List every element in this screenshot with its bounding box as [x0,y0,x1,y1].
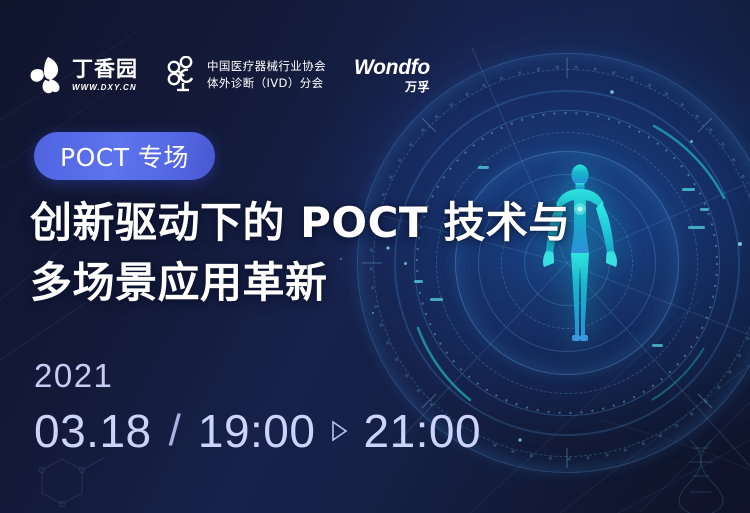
page-title: 创新驱动下的 POCT 技术与 多场景应用革新 [30,193,730,312]
logo-dxy-url: WWW.DXY.CN [72,83,138,92]
logo-ivd-line2: 体外诊断（IVD）分会 [207,75,326,92]
logo-dxy: 丁香园 WWW.DXY.CN [28,55,138,95]
headline-line-1: 创新驱动下的 POCT 技术与 [30,193,730,253]
logo-ivd-line1: 中国医疗器械行业协会 [207,58,326,75]
association-knot-icon [166,56,200,94]
sparkle-dot [372,312,374,314]
logo-cami-ivd: 中国医疗器械行业协会 体外诊断（IVD）分会 [166,56,326,94]
partner-logo-bar: 丁香园 WWW.DXY.CN 中国医疗器械行业协会 体外诊断（ [28,52,430,98]
schedule-date: 03.18 [34,408,152,454]
schedule-block: 2021 03.18 / 19:00 21:00 [34,358,481,454]
schedule-time-row: 03.18 / 19:00 21:00 [34,408,481,454]
play-triangle-icon [331,420,348,442]
logo-wondfo-name-cn: 万孚 [405,81,430,93]
leaf-flower-icon [28,55,66,95]
webinar-banner: 丁香园 WWW.DXY.CN 中国医疗器械行业协会 体外诊断（ [0,0,750,513]
badge-label: POCT 专场 [60,138,189,174]
logo-wondfo: Wondfo 万孚 [354,57,430,93]
status-badge: POCT 专场 [34,132,215,180]
schedule-start-time: 19:00 [198,408,316,454]
logo-wondfo-name-en: Wondfo [354,57,430,78]
schedule-year: 2021 [34,358,481,394]
schedule-separator: / [169,409,181,453]
headline-line-2: 多场景应用革新 [30,253,730,313]
schedule-end-time: 21:00 [363,408,481,454]
logo-dxy-name: 丁香园 [72,58,138,80]
sparkle-dot [690,140,693,143]
